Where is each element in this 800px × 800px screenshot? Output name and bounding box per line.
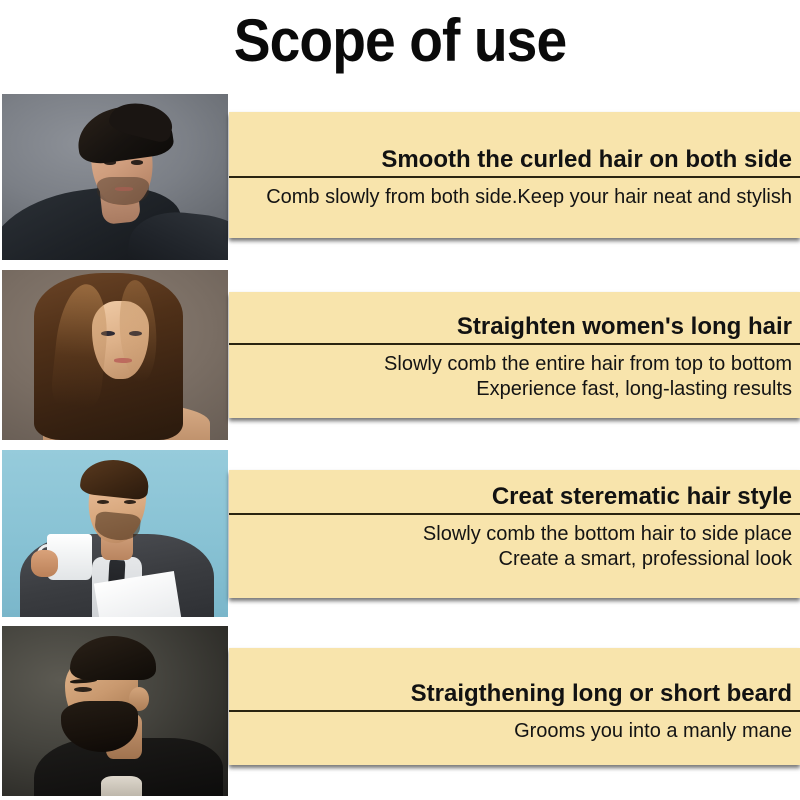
caption-heading-row-3: Creat sterematic hair style (229, 470, 800, 515)
caption-panel-4: Straigthening long or short beard Grooms… (229, 648, 800, 765)
caption-panel-1: Smooth the curled hair on both side Comb… (229, 112, 800, 238)
page-title: Scope of use (32, 10, 768, 72)
caption-heading-row-1: Smooth the curled hair on both side (229, 112, 800, 178)
caption-body-3: Slowly comb the bottom hair to side plac… (423, 522, 792, 572)
caption-heading-4: Straigthening long or short beard (411, 681, 792, 707)
photo-illustration-2 (2, 270, 228, 440)
caption-panel-2: Straighten women's long hair Slowly comb… (229, 292, 800, 418)
caption-heading-row-4: Straigthening long or short beard (229, 648, 800, 712)
caption-body-row-4: Grooms you into a manly mane (229, 712, 800, 765)
photo-illustration-3 (2, 450, 228, 617)
caption-heading-1: Smooth the curled hair on both side (381, 147, 792, 173)
caption-body-4: Grooms you into a manly mane (514, 719, 792, 744)
section-photo-4 (2, 626, 228, 796)
caption-body-1: Comb slowly from both side.Keep your hai… (266, 185, 792, 210)
caption-heading-3: Creat sterematic hair style (492, 484, 792, 510)
caption-heading-2: Straighten women's long hair (457, 314, 792, 340)
caption-body-2: Slowly comb the entire hair from top to … (384, 352, 792, 402)
infographic-page: Scope of use Smooth the curled (0, 0, 800, 800)
caption-body-row-3: Slowly comb the bottom hair to side plac… (229, 515, 800, 596)
section-photo-3 (2, 450, 228, 617)
photo-illustration-1 (2, 94, 228, 260)
caption-body-row-2: Slowly comb the entire hair from top to … (229, 345, 800, 416)
caption-heading-row-2: Straighten women's long hair (229, 292, 800, 345)
section-photo-2 (2, 270, 228, 440)
photo-illustration-4 (2, 626, 228, 796)
section-photo-1 (2, 94, 228, 260)
caption-panel-3: Creat sterematic hair style Slowly comb … (229, 470, 800, 598)
caption-body-row-1: Comb slowly from both side.Keep your hai… (229, 178, 800, 236)
